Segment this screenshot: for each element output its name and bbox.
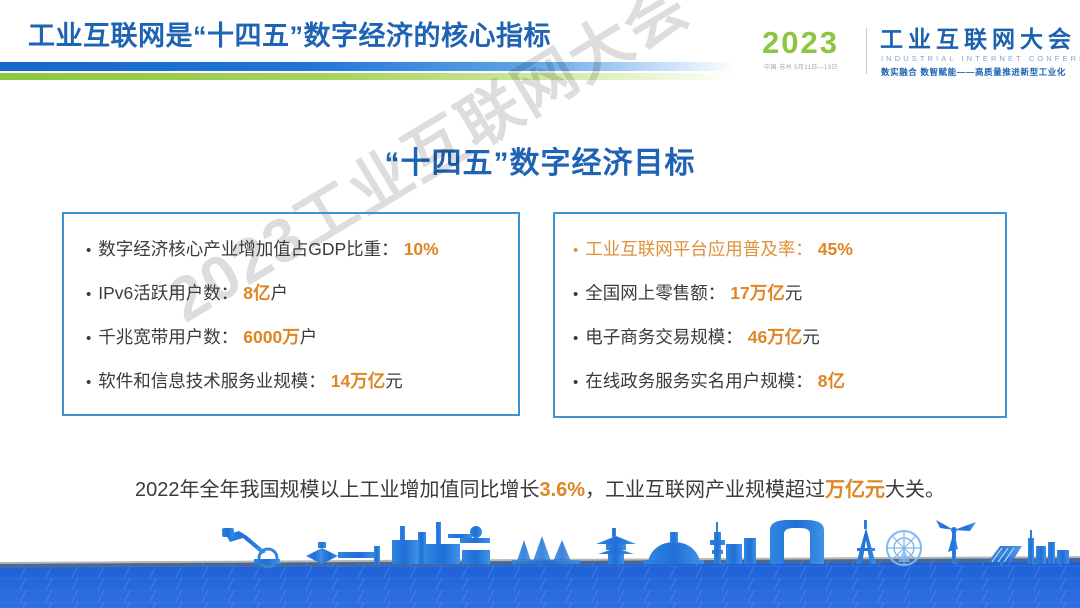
header-divider-green [0, 73, 735, 80]
left-bullet-label-4: 软件和信息技术服务业规模： [98, 368, 326, 393]
logo-name-cn: 工业互联网大会 [880, 26, 1076, 52]
footnote-part2: ，工业互联网产业规模超过 [585, 479, 825, 501]
left-bullet-unit-4: 元 [385, 368, 403, 393]
left-bullet-value-3: 6000万 [243, 324, 299, 349]
logo-tagline: 数实融合 数智赋能——高质量推进新型工业化 [881, 66, 1066, 78]
right-bullet-value-1: 45% [818, 239, 853, 260]
right-bullet-label-4: 在线政务服务实名用户规模： [585, 368, 813, 393]
factory-icon [392, 522, 490, 564]
bullet-dot-icon: • [86, 287, 91, 302]
right-bullet-1: •工业互联网平台应用普及率：45% [573, 236, 989, 261]
tv-tower-icon [710, 522, 756, 564]
bullet-dot-icon: • [573, 331, 578, 346]
left-bullet-3: •千兆宽带用户数：6000万户 [86, 324, 502, 349]
right-bullet-label-3: 电子商务交易规模： [585, 324, 743, 349]
conference-logo: 2023 中国·苏州 5月11日—13日 工业互联网大会 INDUSTRIAL … [762, 26, 1068, 82]
logo-year: 2023 [762, 26, 839, 60]
section-title: “十四五”数字经济目标 [0, 138, 1080, 182]
left-bullet-label-2: IPv6活跃用户数： [98, 280, 238, 305]
footnote-part1: 2022年全年我国规模以上工业增加值同比增长 [135, 479, 540, 501]
left-bullet-value-1: 10% [404, 239, 439, 260]
footnote-highlight-scale: 万亿元 [825, 479, 885, 501]
left-bullet-list: •数字经济核心产业增加值占GDP比重：10%•IPv6活跃用户数：8亿户•千兆宽… [64, 214, 518, 412]
footnote: 2022年全年我国规模以上工业增加值同比增长3.6%，工业互联网产业规模超过万亿… [0, 473, 1080, 502]
right-bullet-2: •全国网上零售额：17万亿元 [573, 280, 989, 305]
skyline-illustration [0, 518, 1080, 608]
dome-building-icon [644, 532, 704, 564]
logo-date: 中国·苏州 5月11日—13日 [764, 62, 838, 71]
left-bullet-4: •软件和信息技术服务业规模：14万亿元 [86, 368, 502, 393]
left-bullet-value-4: 14万亿 [331, 368, 385, 393]
right-bullet-list: •工业互联网平台应用普及率：45%•全国网上零售额：17万亿元•电子商务交易规模… [555, 214, 1005, 412]
left-bullet-2: •IPv6活跃用户数：8亿户 [86, 280, 502, 305]
footnote-part3: 大关。 [885, 479, 945, 501]
right-indicator-box: •工业互联网平台应用普及率：45%•全国网上零售额：17万亿元•电子商务交易规模… [553, 212, 1007, 418]
ferris-wheel-icon [887, 531, 921, 565]
right-bullet-value-2: 17万亿 [730, 280, 784, 305]
bullet-dot-icon: • [86, 331, 91, 346]
right-bullet-label-1: 工业互联网平台应用普及率： [585, 236, 813, 261]
left-bullet-unit-2: 户 [271, 280, 289, 305]
logo-name-en: INDUSTRIAL INTERNET CONFERENCE [881, 54, 1080, 63]
right-bullet-unit-3: 元 [802, 324, 820, 349]
bottom-skyline-band [0, 518, 1080, 608]
left-bullet-1: •数字经济核心产业增加值占GDP比重：10% [86, 236, 502, 261]
bullet-dot-icon: • [86, 375, 91, 390]
right-bullet-3: •电子商务交易规模：46万亿元 [573, 324, 989, 349]
right-bullet-unit-2: 元 [785, 280, 803, 305]
left-bullet-label-1: 数字经济核心产业增加值占GDP比重： [98, 236, 398, 261]
bullet-dot-icon: • [573, 287, 578, 302]
bullet-dot-icon: • [573, 243, 578, 258]
header-divider-blue [0, 62, 735, 71]
left-indicator-box: •数字经济核心产业增加值占GDP比重：10%•IPv6活跃用户数：8亿户•千兆宽… [62, 212, 520, 416]
bullet-dot-icon: • [573, 375, 578, 390]
right-bullet-label-2: 全国网上零售额： [585, 280, 725, 305]
left-bullet-label-3: 千兆宽带用户数： [98, 324, 238, 349]
right-bullet-value-4: 8亿 [818, 368, 845, 393]
right-bullet-value-3: 46万亿 [748, 324, 802, 349]
left-bullet-value-2: 8亿 [243, 280, 270, 305]
footnote-highlight-growth: 3.6% [539, 479, 585, 501]
gate-of-the-orient-icon [770, 520, 824, 564]
suspension-bridge-icon [512, 536, 580, 564]
logo-separator [866, 28, 867, 74]
right-bullet-4: •在线政务服务实名用户规模：8亿 [573, 368, 989, 393]
slide-canvas: 工业互联网是“十四五”数字经济的核心指标 2023 中国·苏州 5月11日—13… [0, 0, 1080, 608]
bullet-dot-icon: • [86, 243, 91, 258]
page-title: 工业互联网是“十四五”数字经济的核心指标 [28, 14, 551, 53]
left-bullet-unit-3: 户 [300, 324, 318, 349]
